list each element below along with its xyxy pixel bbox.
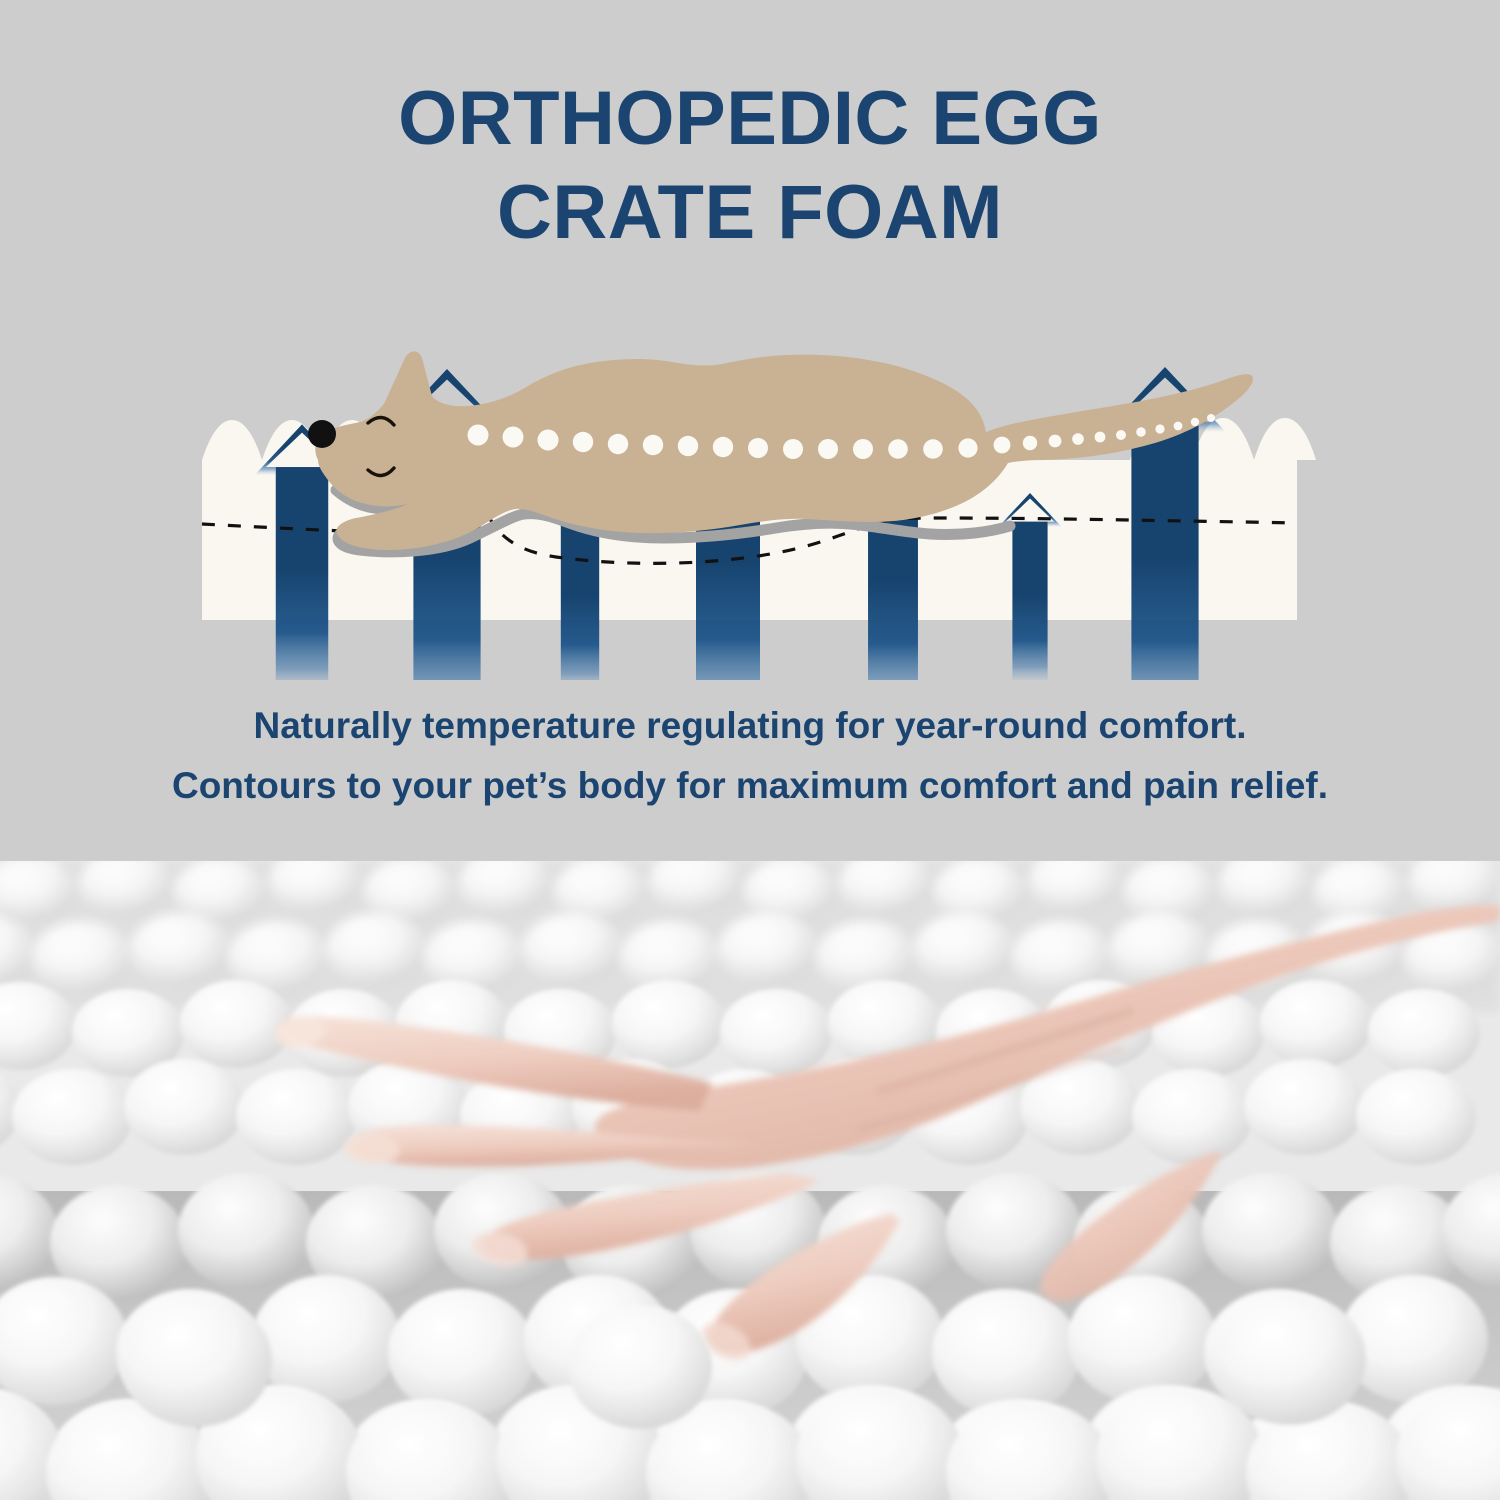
caption-line-1: Naturally temperature regulating for yea… xyxy=(0,696,1500,756)
feature-caption: Naturally temperature regulating for yea… xyxy=(0,696,1500,816)
product-infographic: ORTHOPEDIC EGG CRATE FOAM xyxy=(0,0,1500,1500)
dog-nose-icon xyxy=(308,420,336,448)
headline-line-2: CRATE FOAM xyxy=(0,166,1500,260)
caption-line-2: Contours to your pet’s body for maximum … xyxy=(0,756,1500,816)
foam-support-diagram xyxy=(0,300,1500,680)
page-title: ORTHOPEDIC EGG CRATE FOAM xyxy=(0,72,1500,260)
headline-line-1: ORTHOPEDIC EGG xyxy=(0,72,1500,166)
hand-on-egg-crate-foam-photo xyxy=(0,861,1500,1500)
infographic-top-panel: ORTHOPEDIC EGG CRATE FOAM xyxy=(0,0,1500,861)
